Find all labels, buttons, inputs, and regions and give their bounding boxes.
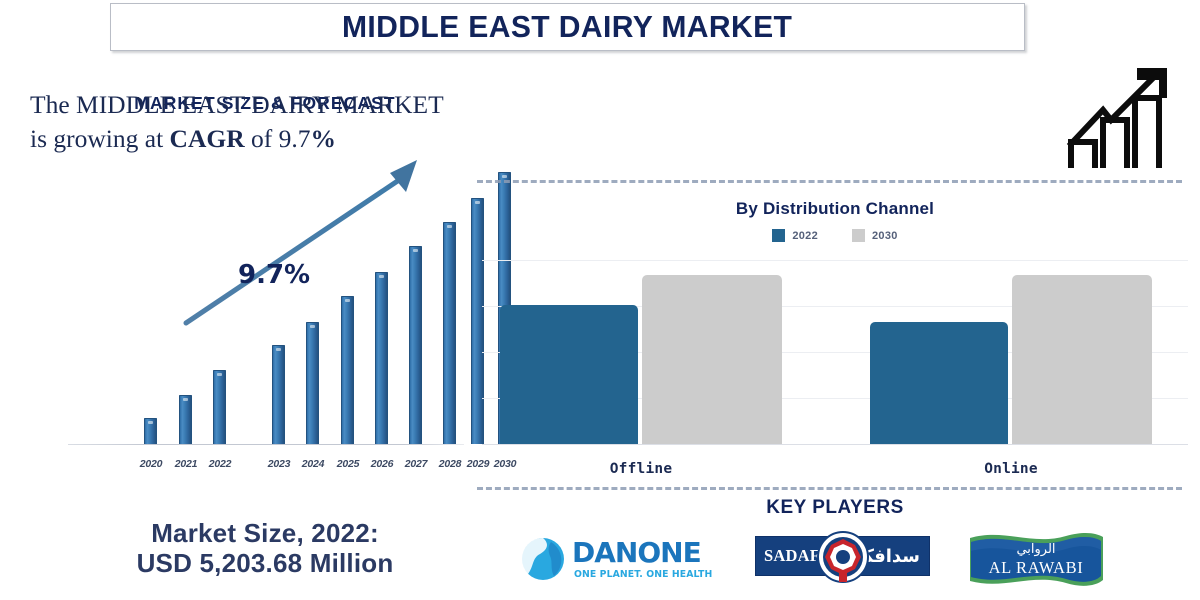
bar-offline-2022 — [500, 305, 638, 444]
year-label-2020: 2020 — [131, 458, 171, 470]
al-rawabi-latin-text: AL RAWABI — [962, 558, 1110, 578]
legend-swatch-2030 — [852, 229, 865, 242]
legend-item-2022: 2022 — [772, 229, 818, 242]
category-label-offline: Offline — [500, 461, 782, 477]
page-title: MIDDLE EAST DAIRY MARKET — [342, 9, 792, 45]
growth-bar-chart-arrow-icon — [1063, 64, 1175, 174]
market-size-line1: Market Size, 2022: — [60, 518, 470, 548]
title-banner: MIDDLE EAST DAIRY MARKET — [110, 3, 1025, 51]
statement-line1: The MIDDLE EAST DAIRY MARKET — [30, 90, 444, 119]
distribution-legend: 2022 2030 — [470, 229, 1200, 242]
category-label-online: Online — [870, 461, 1152, 477]
bar-2025 — [341, 296, 354, 444]
distribution-channel-title: By Distribution Channel — [470, 199, 1200, 219]
market-size-line2: USD 5,203.68 Million — [60, 548, 470, 578]
bar-2022 — [213, 370, 226, 444]
cagr-statement: The MIDDLE EAST DAIRY MARKET is growing … — [30, 88, 610, 155]
statement-cagr-bold: CAGR — [170, 124, 245, 153]
market-size-value: Market Size, 2022: USD 5,203.68 Million — [60, 518, 470, 579]
chart-baseline — [482, 444, 1188, 445]
key-players-logos: DANONE ONE PLANET. ONE HEALTH SADAFCO سد… — [470, 524, 1200, 596]
legend-swatch-2022 — [772, 229, 785, 242]
bar-online-2022 — [870, 322, 1008, 444]
statement-line2-pre: is growing at — [30, 124, 170, 153]
bar-2021 — [179, 395, 192, 444]
bar-online-2030 — [1012, 275, 1152, 444]
danone-wordmark: DANONE — [572, 536, 701, 569]
bar-2026 — [375, 272, 388, 444]
bar-2024 — [306, 322, 319, 444]
gridline — [482, 260, 1188, 261]
cagr-annotation: 9.7% — [238, 260, 310, 290]
legend-label-2030: 2030 — [872, 230, 898, 242]
bar-2028 — [443, 222, 456, 444]
infographic-canvas: MIDDLE EAST DAIRY MARKET MARKET SIZE & F… — [0, 0, 1200, 600]
key-players-title: KEY PLAYERS — [470, 497, 1200, 519]
bar-2027 — [409, 246, 422, 444]
logo-danone[interactable]: DANONE ONE PLANET. ONE HEALTH — [520, 530, 720, 588]
statement-line2-mid: of 9.7 — [245, 124, 311, 153]
danone-tagline: ONE PLANET. ONE HEALTH — [574, 569, 712, 580]
bar-2023 — [272, 345, 285, 444]
legend-item-2030: 2030 — [852, 229, 898, 242]
al-rawabi-arabic-text: الروابي — [962, 542, 1110, 557]
sadafco-emblem-icon — [816, 530, 870, 584]
logo-al-rawabi[interactable]: الروابي AL RAWABI — [962, 524, 1110, 596]
legend-label-2022: 2022 — [792, 230, 818, 242]
bar-2020 — [144, 418, 157, 444]
logo-sadafco[interactable]: SADAFCO سدافكو — [755, 536, 930, 576]
danone-globe-icon — [520, 536, 566, 582]
year-label-2024: 2024 — [293, 458, 333, 470]
divider-bottom — [477, 487, 1182, 490]
distribution-channel-bar-chart: OfflineOnline — [470, 255, 1200, 485]
bar-offline-2030 — [642, 275, 782, 444]
divider-top — [477, 180, 1182, 183]
statement-percent-bold: % — [311, 124, 337, 153]
chart-baseline — [68, 444, 464, 445]
year-label-2022: 2022 — [200, 458, 240, 470]
